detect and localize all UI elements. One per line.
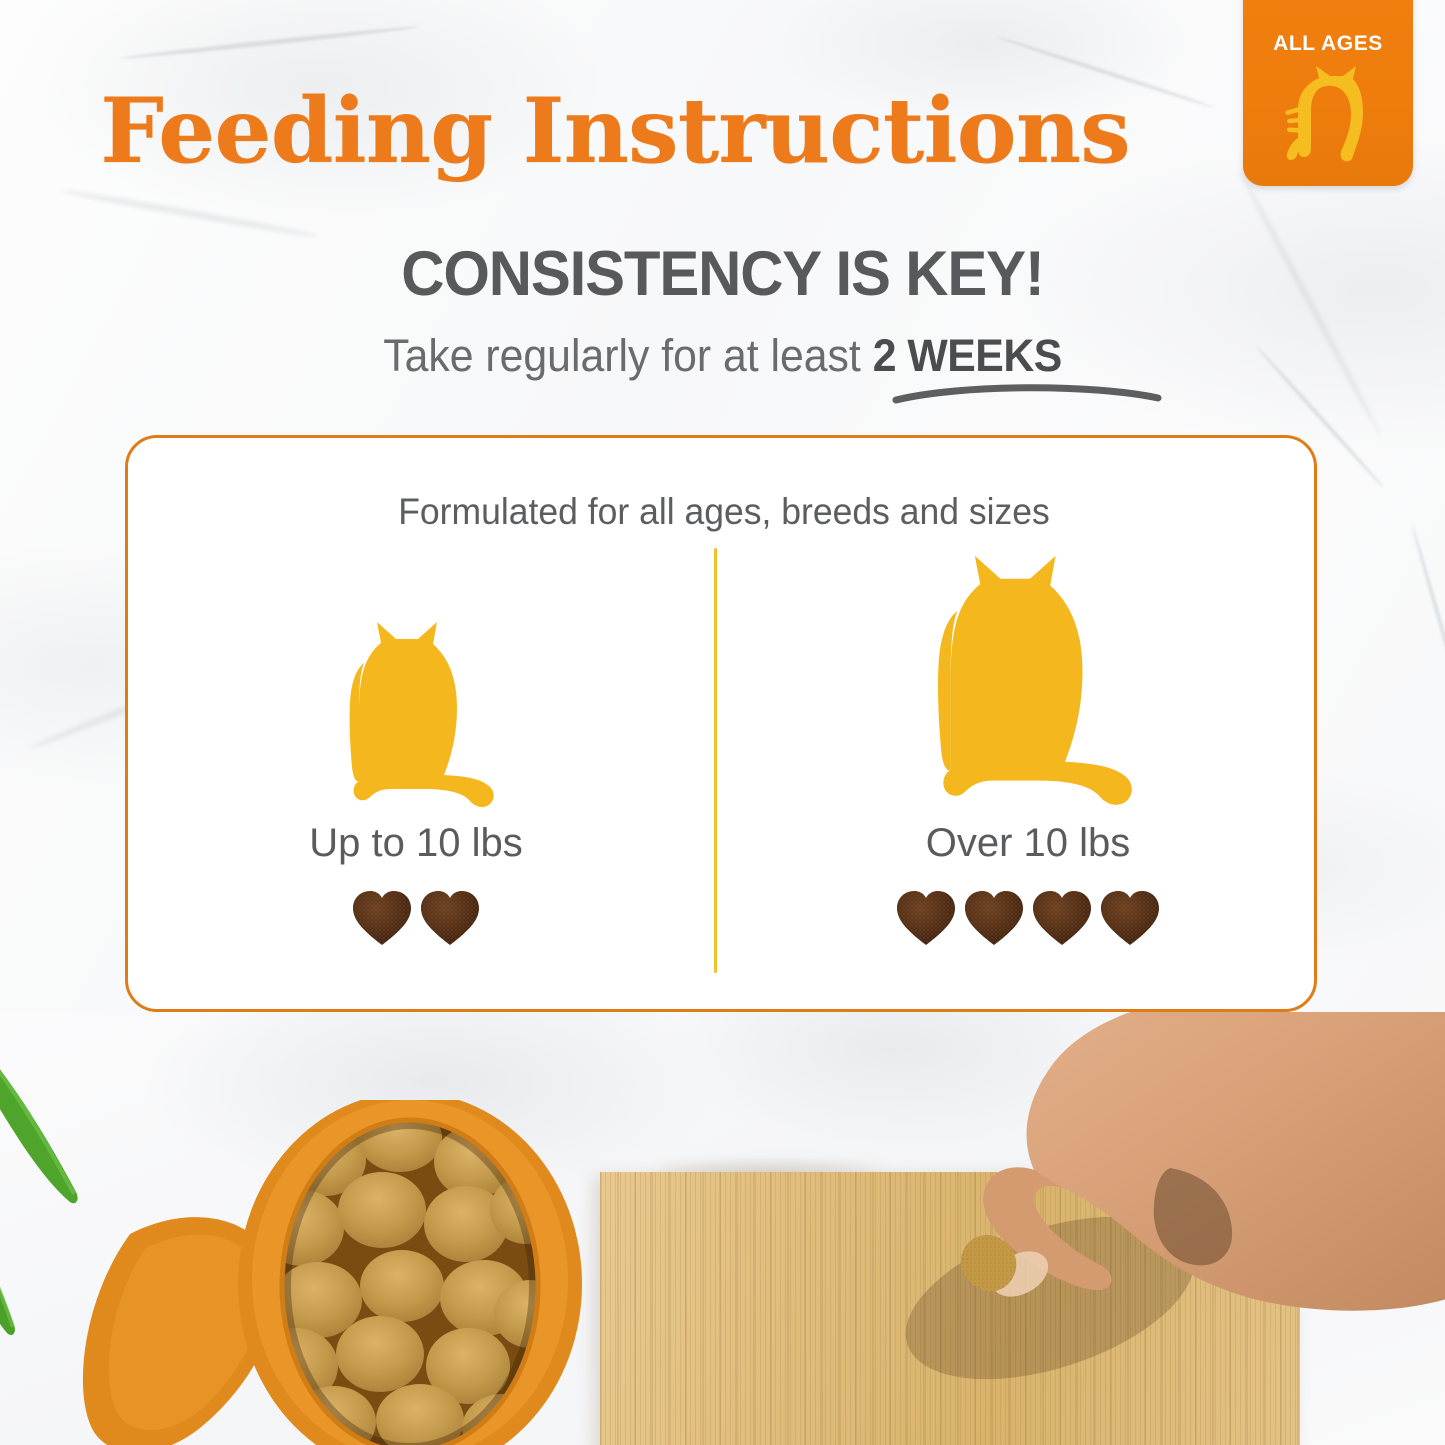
all-ages-badge-label: ALL AGES — [1243, 32, 1413, 56]
heart-kibble-icon — [1099, 889, 1161, 947]
heart-kibble-icon — [895, 889, 957, 947]
hand-holding-kibble — [870, 1012, 1445, 1398]
card-subtitle: Formulated for all ages, breeds and size… — [152, 493, 1296, 530]
cat-silhouette-icon — [1281, 64, 1381, 172]
cat-icon-wrap-large — [748, 533, 1308, 813]
feeding-chart-card: Formulated for all ages, breeds and size… — [125, 435, 1317, 1012]
product-photo — [0, 1012, 1445, 1445]
feeding-instructions-infographic: ALL AGES Feeding Instructions CONSISTENC… — [0, 0, 1445, 1445]
tagline-prefix: Take regularly for at least — [383, 330, 872, 381]
heart-kibble-icon — [963, 889, 1025, 947]
swoosh-underline-icon — [892, 378, 1162, 408]
cat-silhouette-large-icon — [917, 549, 1139, 813]
feeding-column-small-cat: Up to 10 lbs — [136, 533, 696, 947]
heart-kibble-icon — [351, 889, 413, 947]
weight-label-small: Up to 10 lbs — [136, 823, 696, 863]
cat-silhouette-small-icon — [334, 617, 499, 813]
heart-kibble-icon — [419, 889, 481, 947]
page-title: Feeding Instructions — [0, 86, 1230, 176]
cat-icon-wrap-small — [136, 533, 696, 813]
kibble-group-small — [136, 889, 696, 947]
orange-cup-with-kibble — [230, 1100, 590, 1445]
page-subtitle: CONSISTENCY IS KEY! — [36, 243, 1409, 306]
heart-kibble-icon — [1031, 889, 1093, 947]
tagline-emphasis: 2 WEEKS — [873, 330, 1062, 381]
weight-label-large: Over 10 lbs — [748, 823, 1308, 863]
all-ages-badge: ALL AGES — [1243, 0, 1413, 186]
kibble-group-large — [748, 889, 1308, 947]
column-divider — [714, 548, 717, 973]
feeding-column-large-cat: Over 10 lbs — [748, 533, 1308, 947]
tagline: Take regularly for at least 2 WEEKS — [36, 333, 1409, 378]
